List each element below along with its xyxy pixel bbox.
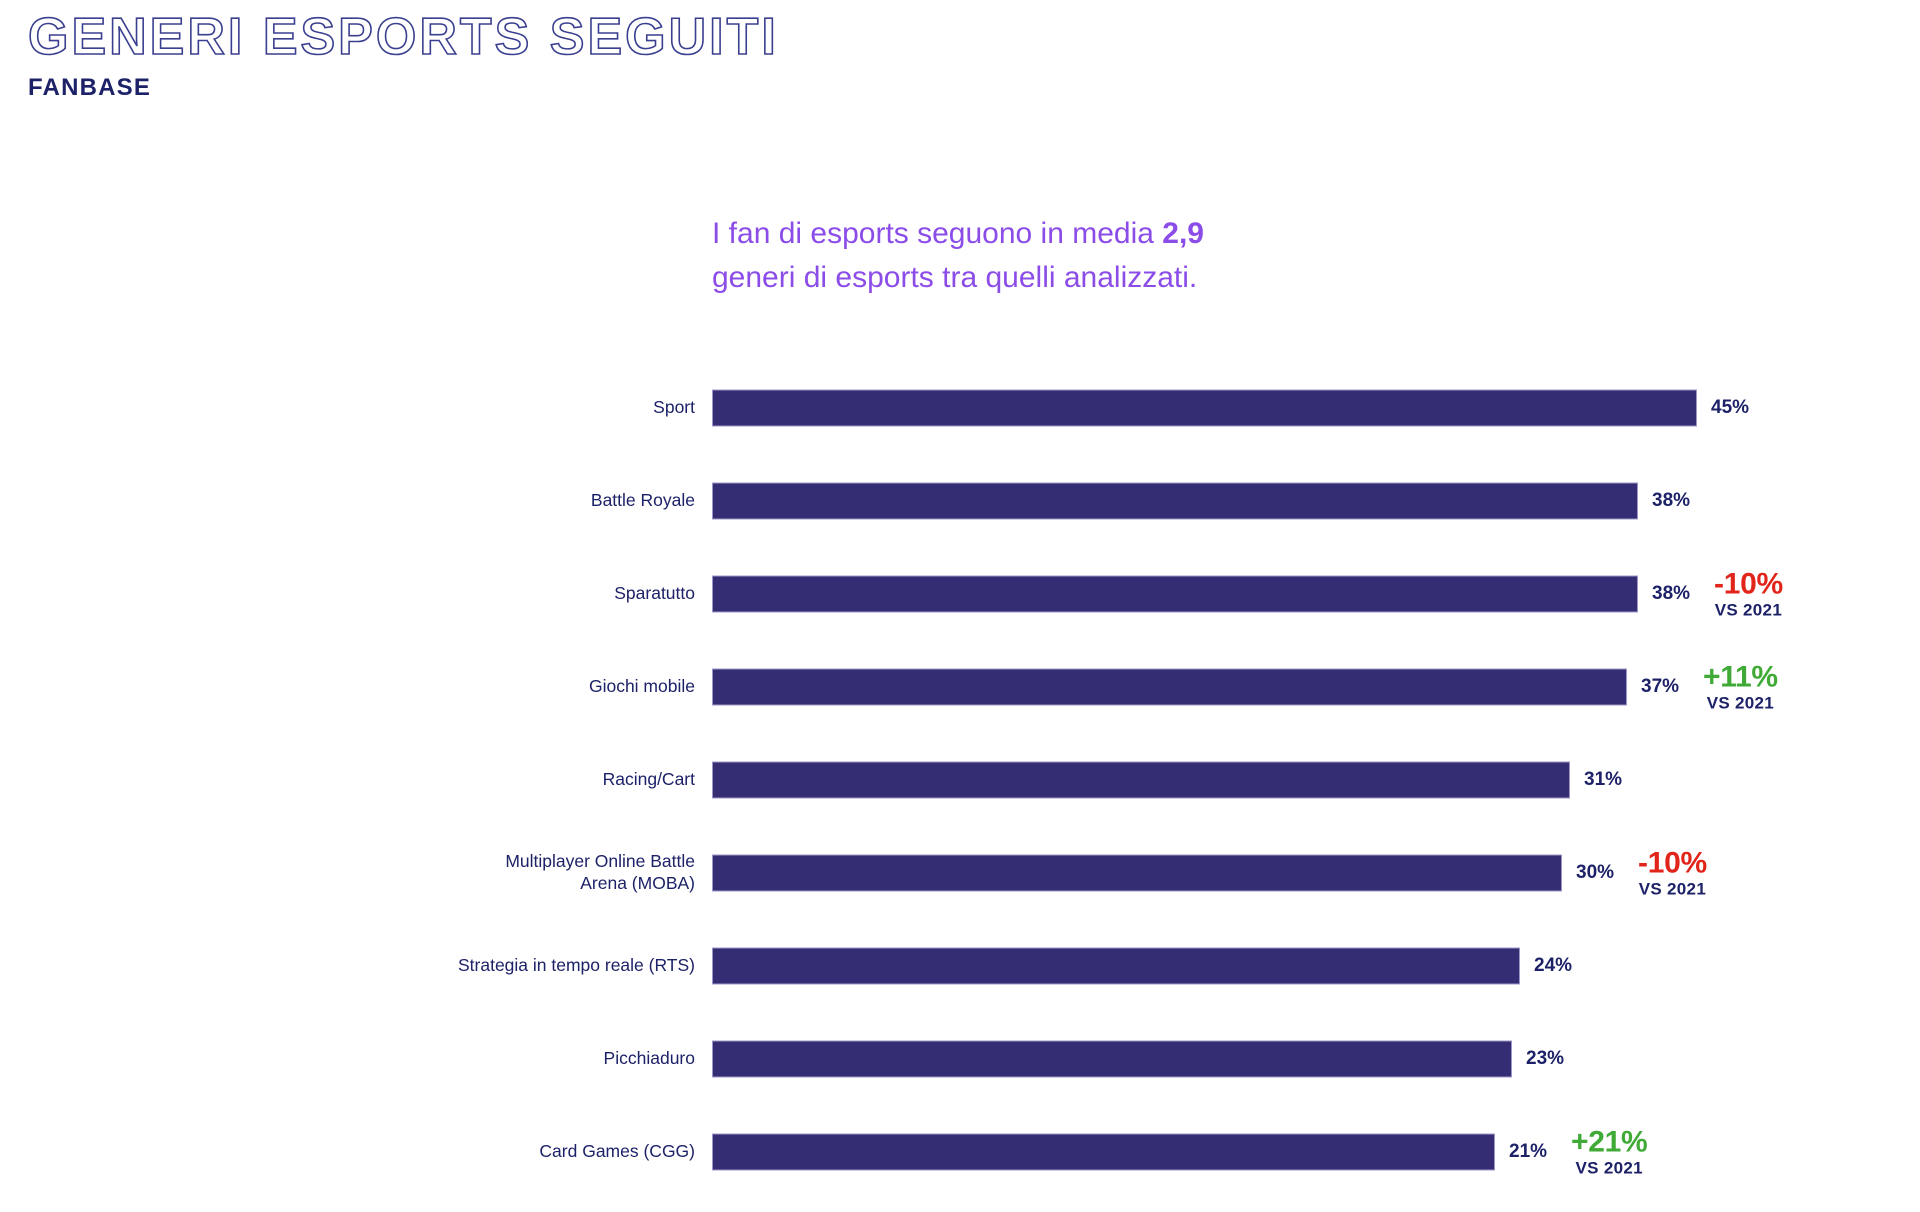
delta-value: -10%: [1638, 847, 1707, 879]
bar-row: Giochi mobile37%+11%VS 2021: [0, 651, 1920, 723]
bar-fill: [712, 576, 1638, 613]
bar-row: Multiplayer Online Battle Arena (MOBA)30…: [0, 837, 1920, 909]
bar-track: [712, 948, 1520, 985]
bar-category-label: Picchiaduro: [175, 1048, 695, 1070]
delta-reference-label: VS 2021: [1714, 601, 1783, 620]
bar-row: Racing/Cart31%: [0, 744, 1920, 816]
bar-track: [712, 762, 1570, 799]
bar-category-label: Sport: [175, 397, 695, 419]
page-subtitle: FANBASE: [28, 74, 1228, 102]
intro-line2-text: generi di esports tra quelli analizzati.: [712, 261, 1197, 294]
bar-category-label: Giochi mobile: [175, 676, 695, 698]
delta-value: +21%: [1571, 1126, 1647, 1158]
bar-track: [712, 390, 1697, 427]
bar-fill: [712, 1134, 1495, 1171]
intro-line1-text: I fan di esports seguono in media: [712, 217, 1162, 250]
intro-statement: I fan di esports seguono in media 2,9 ge…: [712, 212, 1472, 299]
bar-track: [712, 1134, 1495, 1171]
bar-value-label: 38%: [1652, 490, 1690, 512]
intro-average-value: 2,9: [1162, 217, 1204, 250]
bar-row: Strategia in tempo reale (RTS)24%: [0, 930, 1920, 1002]
bar-row: Battle Royale38%: [0, 465, 1920, 537]
delta-value: -10%: [1714, 568, 1783, 600]
page-header: GENERI ESPORTS SEGUITI FANBASE: [28, 10, 1228, 102]
delta-reference-label: VS 2021: [1571, 1159, 1647, 1178]
delta-reference-label: VS 2021: [1638, 880, 1707, 899]
bar-fill: [712, 390, 1697, 427]
delta-annotation: +11%VS 2021: [1703, 661, 1778, 712]
bar-value-label: 45%: [1711, 397, 1749, 419]
delta-reference-label: VS 2021: [1703, 694, 1778, 713]
bar-category-label: Sparatutto: [175, 583, 695, 605]
bar-row: Sport45%: [0, 372, 1920, 444]
bar-track: [712, 669, 1627, 706]
bar-fill: [712, 1041, 1512, 1078]
bar-row: Sparatutto38%-10%VS 2021: [0, 558, 1920, 630]
bar-category-label: Multiplayer Online Battle Arena (MOBA): [175, 851, 695, 895]
delta-annotation: -10%VS 2021: [1714, 568, 1783, 619]
bar-value-label: 38%: [1652, 583, 1690, 605]
bar-fill: [712, 855, 1562, 892]
delta-annotation: -10%VS 2021: [1638, 847, 1707, 898]
bar-category-label: Card Games (CGG): [175, 1141, 695, 1163]
delta-annotation: +21%VS 2021: [1571, 1126, 1647, 1177]
bar-value-label: 30%: [1576, 862, 1614, 884]
bar-category-label: Strategia in tempo reale (RTS): [175, 955, 695, 977]
bar-value-label: 31%: [1584, 769, 1622, 791]
bar-value-label: 23%: [1526, 1048, 1564, 1070]
page-title: GENERI ESPORTS SEGUITI: [28, 10, 1228, 65]
bar-value-label: 24%: [1534, 955, 1572, 977]
bar-fill: [712, 762, 1570, 799]
bar-value-label: 21%: [1509, 1141, 1547, 1163]
bar-row: Card Games (CGG)21%+21%VS 2021: [0, 1116, 1920, 1188]
bar-category-label: Racing/Cart: [175, 769, 695, 791]
delta-value: +11%: [1703, 661, 1778, 693]
bar-value-label: 37%: [1641, 676, 1679, 698]
bar-track: [712, 483, 1638, 520]
bar-track: [712, 855, 1562, 892]
bar-track: [712, 576, 1638, 613]
bar-fill: [712, 948, 1520, 985]
bar-chart: Sport45%Battle Royale38%Sparatutto38%-10…: [0, 360, 1920, 1200]
bar-row: Picchiaduro23%: [0, 1023, 1920, 1095]
bar-fill: [712, 483, 1638, 520]
bar-track: [712, 1041, 1512, 1078]
bar-category-label: Battle Royale: [175, 490, 695, 512]
bar-fill: [712, 669, 1627, 706]
